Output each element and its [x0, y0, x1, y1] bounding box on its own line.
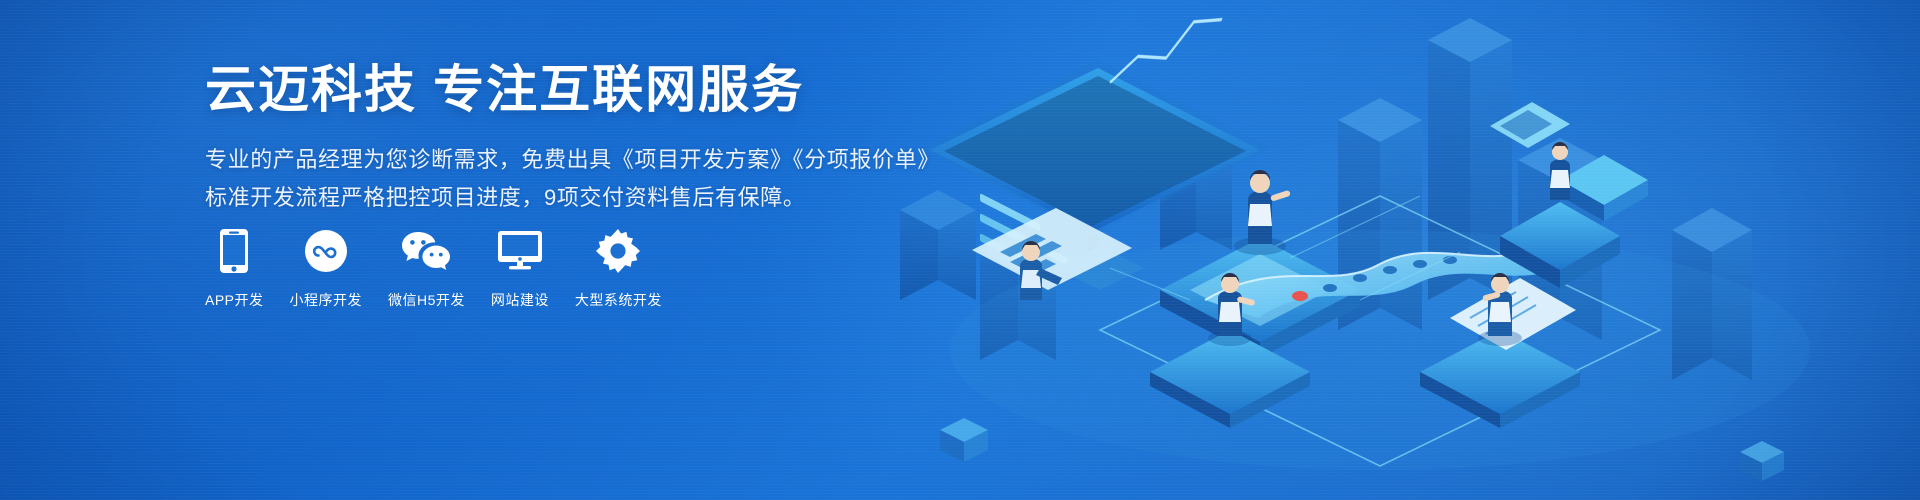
isometric-illustration — [860, 0, 1920, 500]
service-label: 网站建设 — [491, 290, 549, 310]
hero-copy: 云迈科技 专注互联网服务 专业的产品经理为您诊断需求，免费出具《项目开发方案》《… — [205, 60, 965, 216]
wechat-icon — [400, 228, 452, 274]
subtitle-line-1: 专业的产品经理为您诊断需求，免费出具《项目开发方案》《分项报价单》 — [205, 142, 965, 178]
service-label: 小程序开发 — [290, 290, 363, 310]
page-title: 云迈科技 专注互联网服务 — [205, 60, 965, 120]
service-item-app[interactable]: APP开发 — [205, 228, 264, 310]
subtitle-line-2: 标准开发流程严格把控项目进度，9项交付资料售后有保障。 — [205, 180, 965, 216]
phone-icon — [219, 228, 249, 274]
service-item-mini-program[interactable]: 小程序开发 — [290, 228, 363, 310]
gear-icon — [596, 228, 640, 274]
monitor-icon — [497, 228, 543, 274]
mini-program-icon — [305, 228, 347, 274]
service-label: 大型系统开发 — [575, 290, 662, 310]
service-item-website[interactable]: 网站建设 — [491, 228, 549, 310]
service-item-wechat-h5[interactable]: 微信H5开发 — [388, 228, 465, 310]
service-item-large-system[interactable]: 大型系统开发 — [575, 228, 662, 310]
service-label: APP开发 — [205, 290, 264, 310]
hero-banner: 云迈科技 专注互联网服务 专业的产品经理为您诊断需求，免费出具《项目开发方案》《… — [0, 0, 1920, 500]
service-list: APP开发 小程序开发 微信 — [205, 228, 662, 310]
service-label: 微信H5开发 — [388, 290, 465, 310]
